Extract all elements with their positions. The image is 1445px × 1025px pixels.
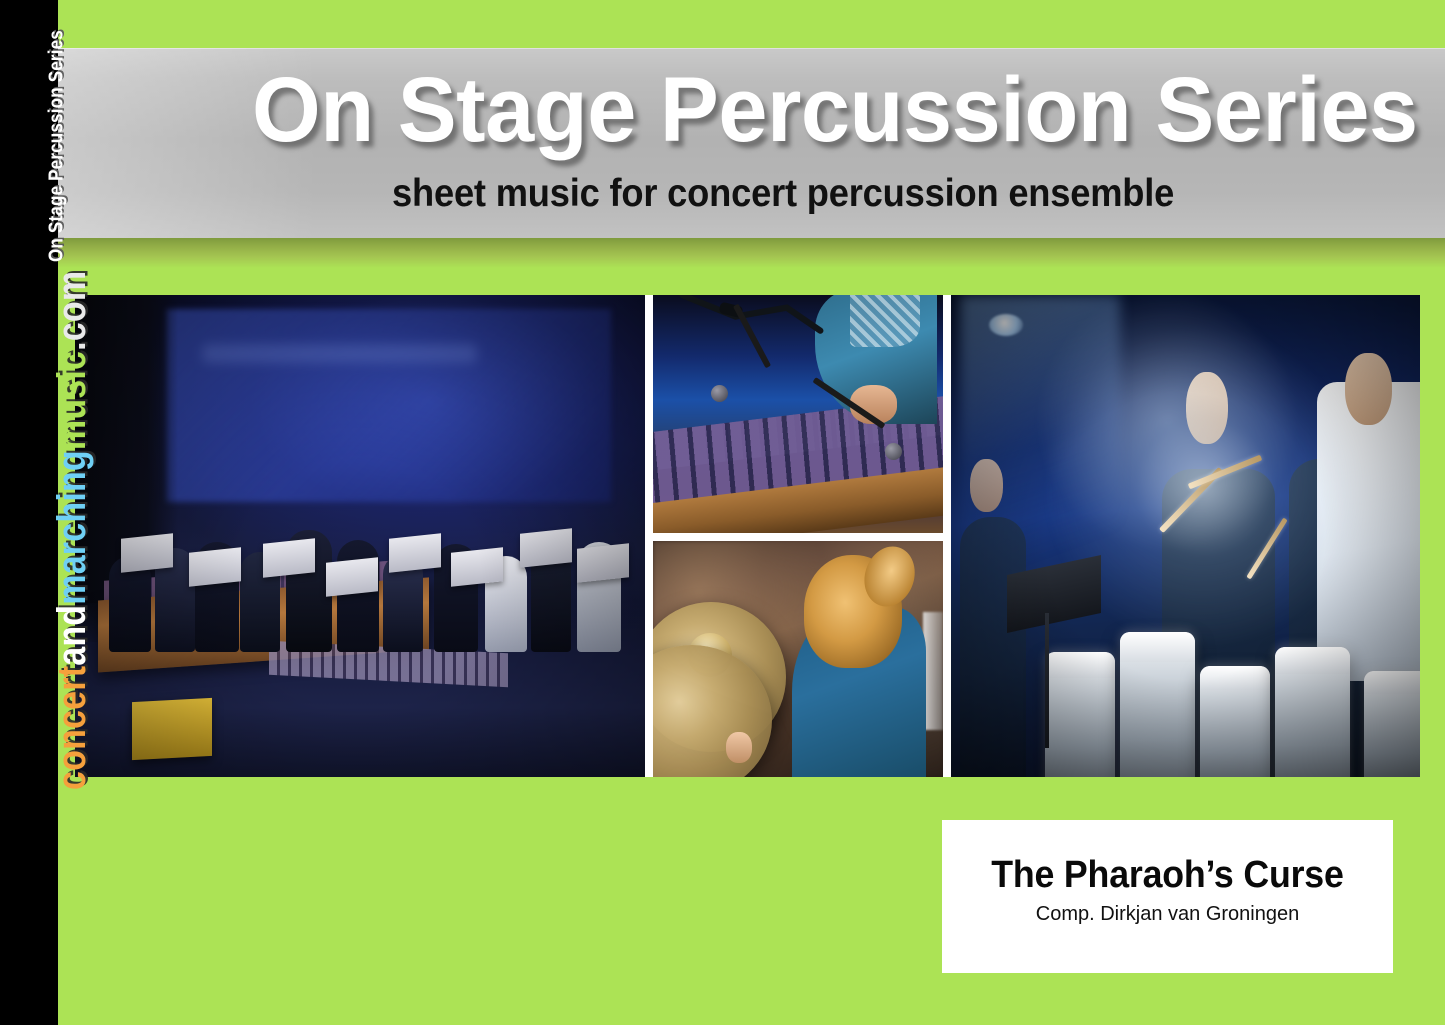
spine-series-label: On Stage Percussion Series xyxy=(44,30,68,262)
photo-drummers-water-spray xyxy=(951,295,1420,777)
photo-collage xyxy=(75,295,1420,777)
spine-series-block: On Stage Percussion Series xyxy=(0,0,58,290)
top-green-band xyxy=(58,0,1445,48)
collage-column-right xyxy=(951,295,1420,777)
url-part-marching: marching xyxy=(50,450,95,605)
url-part-music: music xyxy=(50,351,95,450)
banner-drop-shadow-band xyxy=(58,238,1445,268)
photo-cymbal-player xyxy=(653,541,943,777)
series-title: On Stage Percussion Series xyxy=(252,56,1418,164)
url-part-com: .com xyxy=(50,271,95,351)
photo-marimba-mallets-closeup xyxy=(653,295,943,533)
collage-column-middle xyxy=(653,295,943,777)
photo-percussion-ensemble-on-stage xyxy=(75,295,645,777)
url-part-concert: concert xyxy=(50,666,95,790)
spine-website-wordmark[interactable]: concertandmarchingmusic.com xyxy=(52,271,92,790)
microphone-boom-icon xyxy=(676,295,827,352)
sheet-music-cover: C M music On Stage Percussion Series she… xyxy=(0,0,1445,1025)
collage-column-left xyxy=(75,295,645,777)
url-part-and: and xyxy=(50,605,95,666)
left-spine: On Stage Percussion Series concertandmar… xyxy=(0,0,58,1025)
series-subtitle: sheet music for concert percussion ensem… xyxy=(392,171,1174,217)
piece-composer: Comp. Dirkjan van Groningen xyxy=(1036,900,1299,928)
piece-title-card: The Pharaoh’s Curse Comp. Dirkjan van Gr… xyxy=(942,820,1393,973)
piece-title: The Pharaoh’s Curse xyxy=(991,852,1343,898)
